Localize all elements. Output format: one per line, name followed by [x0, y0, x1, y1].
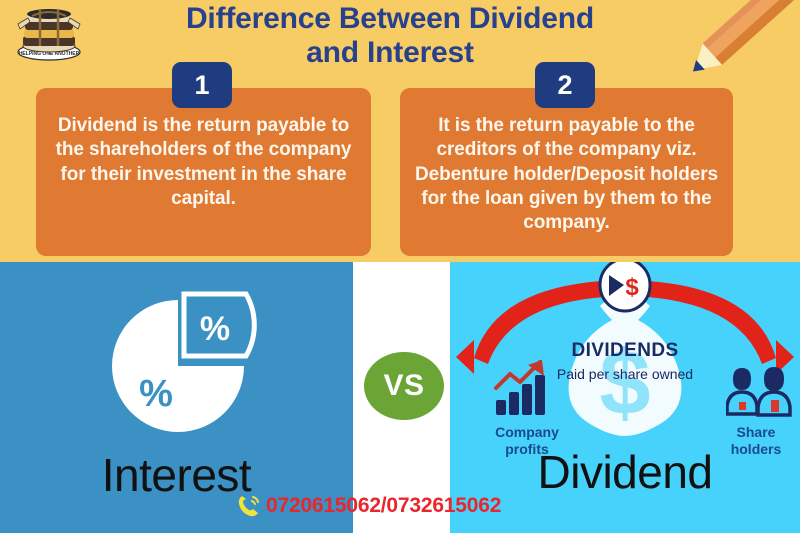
pie-percent-label-bottom: % [139, 373, 173, 415]
card-interest: It is the return payable to the creditor… [400, 88, 733, 256]
number-badge-2: 2 [535, 62, 595, 108]
pie-percent-label-top: % [200, 310, 230, 348]
number-badge-1: 1 [172, 62, 232, 108]
card-interest-text: It is the return payable to the creditor… [410, 114, 723, 236]
caption-share-holders-line1: Share [712, 424, 800, 441]
phone-ringing-icon [236, 493, 262, 519]
page-title: Difference Between Dividend and Interest [110, 2, 670, 69]
helping-one-another-logo: HELPING ONE ANOTHER [10, 2, 88, 62]
contact-strip: 0720615062/0732615062 [236, 489, 566, 523]
card-dividend-text: Dividend is the return payable to the sh… [46, 114, 361, 211]
caption-share-holders: Share holders [712, 424, 800, 458]
header-band: HELPING ONE ANOTHER [0, 0, 800, 262]
caption-share-holders-line2: holders [712, 441, 800, 458]
vs-badge: VS [364, 352, 444, 420]
pencil-decoration [680, 0, 800, 92]
infographic-root: HELPING ONE ANOTHER [0, 0, 800, 533]
shareholders-people-icon [726, 362, 792, 418]
coin-dollar-symbol: $ [625, 274, 639, 301]
pie-chart-percent-icon: % % [88, 284, 268, 439]
caption-company-profits-line2: profits [472, 441, 582, 458]
caption-company-profits-line1: Company [472, 424, 582, 441]
growth-bar-chart-icon [492, 360, 554, 420]
card-dividend: Dividend is the return payable to the sh… [36, 88, 371, 256]
phone-numbers: 0720615062/0732615062 [266, 494, 501, 518]
dividends-bag-title: DIVIDENDS [525, 340, 725, 362]
caption-company-profits: Company profits [472, 424, 582, 458]
title-line-1: Difference Between Dividend [110, 2, 670, 36]
